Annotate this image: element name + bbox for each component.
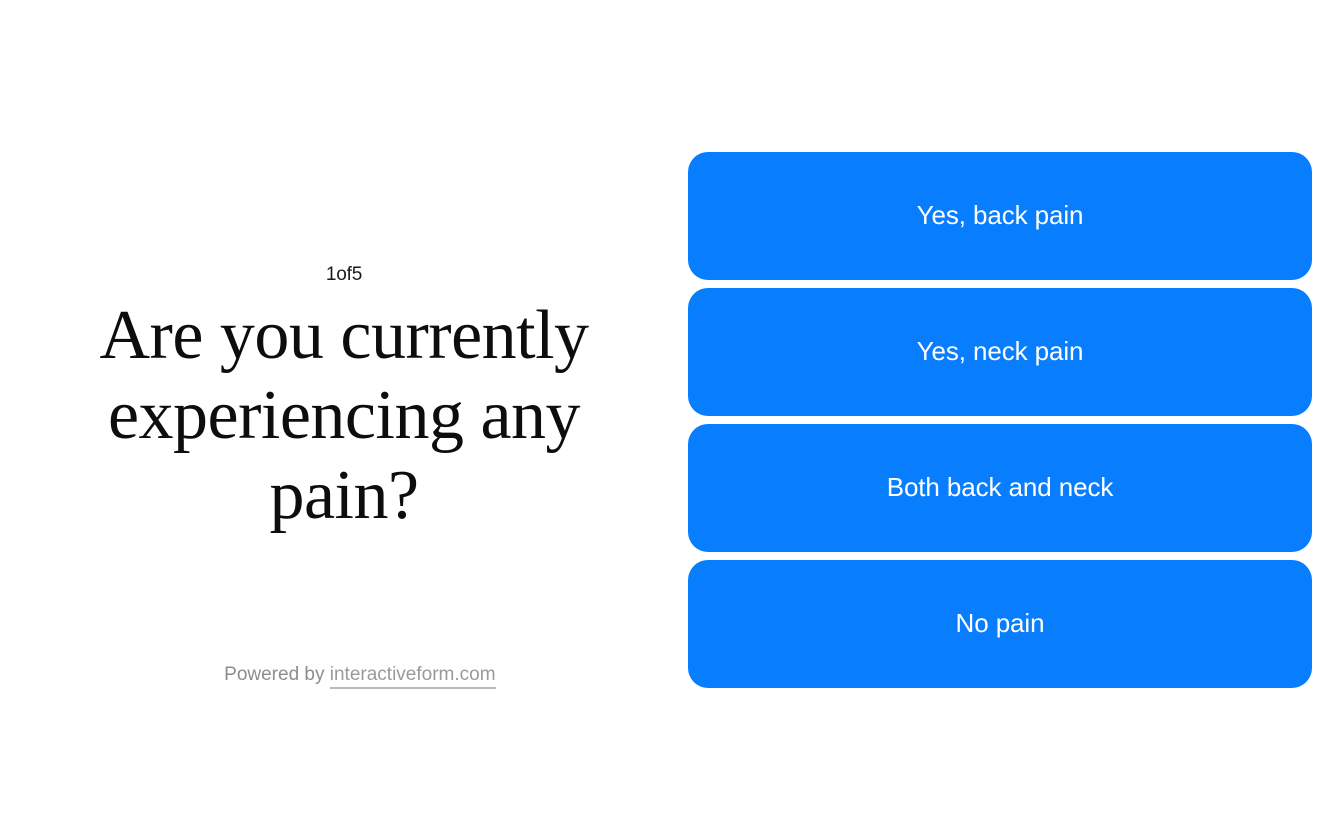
question-title: Are you currently experiencing any pain? [64, 296, 624, 536]
question-pane: 1of5 Are you currently experiencing any … [0, 0, 688, 840]
footer-credit: Powered by interactiveform.com [64, 636, 624, 714]
form-page: 1of5 Are you currently experiencing any … [0, 0, 1344, 840]
question-block: 1of5 Are you currently experiencing any … [64, 262, 624, 536]
powered-by-label: Powered by [224, 664, 330, 685]
options-list: Yes, back pain Yes, neck pain Both back … [688, 152, 1312, 688]
option-button-no-pain[interactable]: No pain [688, 560, 1312, 688]
step-counter: 1of5 [64, 262, 624, 288]
option-button-yes-neck-pain[interactable]: Yes, neck pain [688, 288, 1312, 416]
option-button-yes-back-pain[interactable]: Yes, back pain [688, 152, 1312, 280]
interactiveform-link[interactable]: interactiveform.com [330, 664, 496, 689]
option-button-both-back-and-neck[interactable]: Both back and neck [688, 424, 1312, 552]
